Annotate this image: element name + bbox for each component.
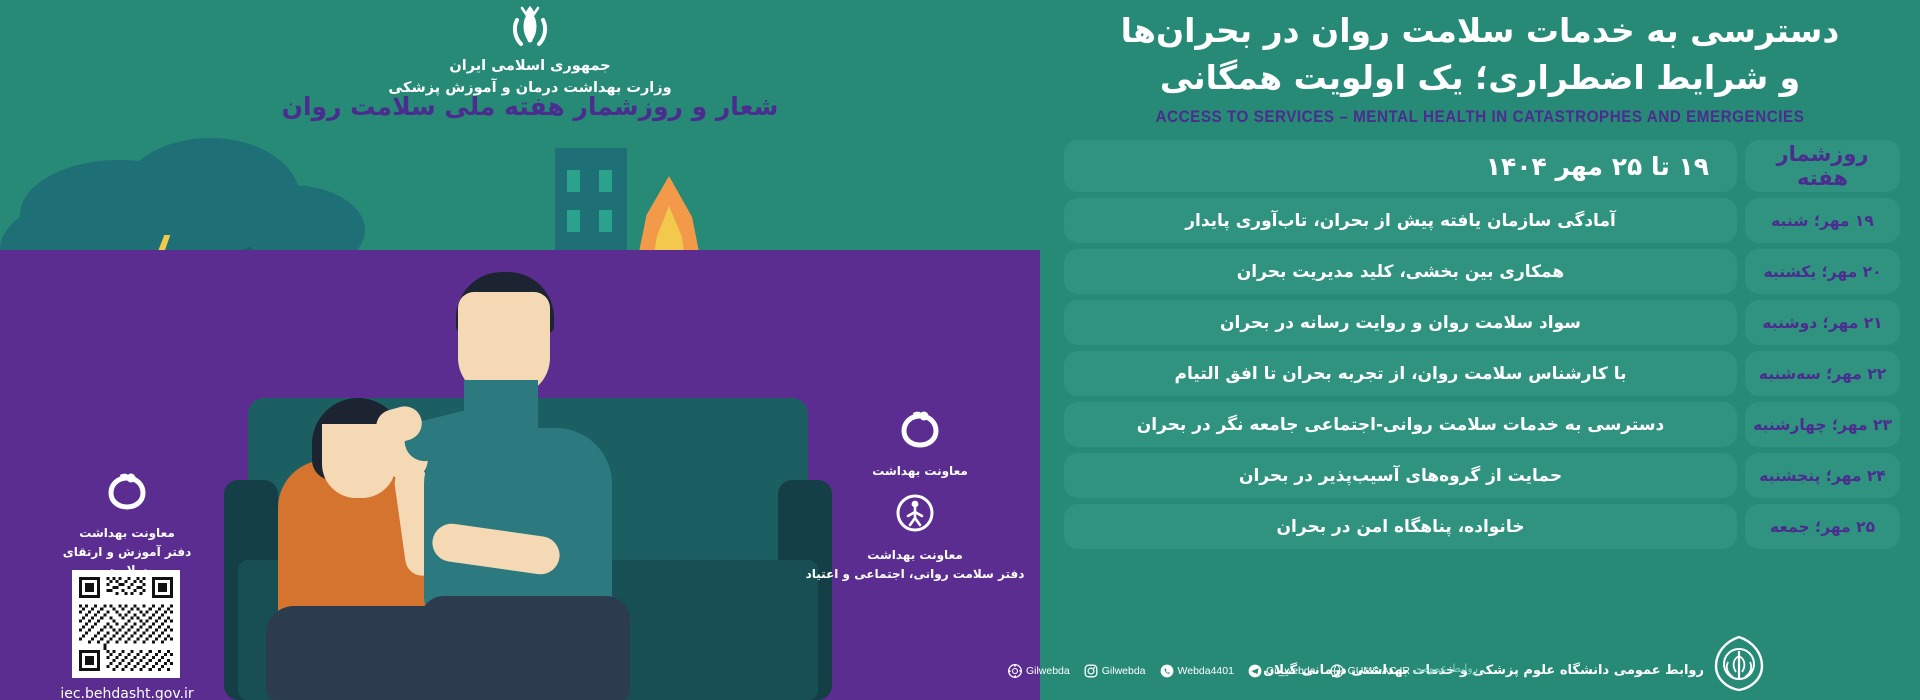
ministry-line-1: جمهوری اسلامی ایران [330, 56, 730, 78]
telegram-icon [1248, 664, 1262, 678]
day-label: ۲۳ مهر؛ چهارشنبه [1745, 402, 1900, 447]
iran-emblem-icon [504, 6, 556, 52]
table-row[interactable]: ۲۱ مهر؛ دوشنبه سواد سلامت روان و روایت ر… [1064, 300, 1900, 345]
day-label: ۱۹ مهر؛ شنبه [1745, 198, 1900, 243]
theme-label: خانواده، پناهگاه امن در بحران [1064, 504, 1737, 549]
day-label: ۲۵ مهر؛ جمعه [1745, 504, 1900, 549]
deputy-right-2-line-1: معاونت بهداشت [800, 546, 1030, 565]
table-row[interactable]: ۲۳ مهر؛ چهارشنبه دسترسی به خدمات سلامت ر… [1064, 402, 1900, 447]
table-row[interactable]: ۲۵ مهر؛ جمعه خانواده، پناهگاه امن در بحر… [1064, 504, 1900, 549]
globe-icon [1330, 664, 1344, 678]
social-handle: Gilwebda [1102, 665, 1146, 677]
qr-code-pattern [76, 574, 176, 674]
health-promotion-ring-icon [106, 470, 148, 512]
weekly-schedule-table: روزشمار هفته ۱۹ تا ۲۵ مهر ۱۴۰۴ ۱۹ مهر؛ ش… [1064, 140, 1900, 555]
social-link-aparat[interactable]: Gilwebda [1008, 664, 1070, 678]
social-handle: Gilwebda [1026, 665, 1070, 677]
slogan-text: شعار و روزشمار هفته ملی سلامت روان [250, 92, 810, 121]
social-link-telegram[interactable]: Gil_webda [1248, 664, 1316, 678]
day-label: ۲۱ مهر؛ دوشنبه [1745, 300, 1900, 345]
deputy-right-block-2: معاونت بهداشت دفتر سلامت روانی، اجتماعی … [800, 492, 1030, 583]
social-link-whatsapp[interactable]: Webda4401 [1160, 664, 1234, 678]
right-panel: دسترسی به خدمات سلامت روان در بحران‌ها و… [1040, 0, 1920, 700]
theme-label: با کارشناس سلامت روان، از تجربه بحران تا… [1064, 351, 1737, 396]
table-header-day-label: روزشمار هفته [1745, 140, 1900, 192]
deputy-right-1-line-1: معاونت بهداشت [820, 462, 1020, 481]
social-link-instagram[interactable]: Gilwebda [1084, 664, 1146, 678]
page-title: دسترسی به خدمات سلامت روان در بحران‌ها و… [1060, 8, 1900, 102]
deputy-right-block-1: معاونت بهداشت [820, 408, 1020, 481]
table-row[interactable]: ۲۰ مهر؛ یکشنبه همکاری بین بخشی، کلید مدی… [1064, 249, 1900, 294]
social-links: GUMS.AC.IR Gil_webda Webda4401 [1008, 664, 1410, 678]
table-header-row: روزشمار هفته ۱۹ تا ۲۵ مهر ۱۴۰۴ [1064, 140, 1900, 192]
ministry-header: جمهوری اسلامی ایران وزارت بهداشت درمان و… [330, 6, 730, 100]
title-line-1: دسترسی به خدمات سلامت روان در بحران‌ها [1060, 8, 1900, 55]
qr-url-text: iec.behdasht.gov.ir [22, 686, 232, 700]
social-link-globe[interactable]: GUMS.AC.IR [1330, 664, 1410, 678]
deputy-right-2-line-2: دفتر سلامت روانی، اجتماعی و اعتیاد [800, 565, 1030, 584]
mental-social-health-icon [894, 492, 936, 534]
day-label: ۲۰ مهر؛ یکشنبه [1745, 249, 1900, 294]
theme-label: آمادگی سازمان یافته پیش از بحران، تاب‌آو… [1064, 198, 1737, 243]
theme-label: دسترسی به خدمات سلامت روانی-اجتماعی جامع… [1064, 402, 1737, 447]
supportive-person-icon [420, 596, 630, 700]
deputy-left-block: معاونت بهداشت دفتر آموزش و ارتقای سلامت [42, 470, 212, 580]
social-handle: Webda4401 [1178, 665, 1234, 677]
social-handle: Gil_webda [1266, 665, 1316, 677]
table-row[interactable]: ۲۴ مهر؛ پنجشنبه حمایت از گروه‌های آسیب‌پ… [1064, 453, 1900, 498]
health-promotion-ring-icon [899, 408, 941, 450]
instagram-icon [1084, 664, 1098, 678]
footer: روابط عمومی دانشگاه علوم پزشکی و خدمات ب… [1040, 628, 1920, 700]
theme-label: همکاری بین بخشی، کلید مدیریت بحران [1064, 249, 1737, 294]
title-line-2: و شرایط اضطراری؛ یک اولویت همگانی [1060, 55, 1900, 102]
whatsapp-icon [1160, 664, 1174, 678]
day-label: ۲۴ مهر؛ پنجشنبه [1745, 453, 1900, 498]
gums-university-logo-icon [1708, 634, 1770, 692]
aparat-icon [1008, 664, 1022, 678]
day-label: ۲۲ مهر؛ سه‌شنبه [1745, 351, 1900, 396]
subtitle-english: ACCESS TO SERVICES – MENTAL HEALTH IN CA… [1094, 108, 1867, 127]
theme-label: سواد سلامت روان و روایت رسانه در بحران [1064, 300, 1737, 345]
table-row[interactable]: ۱۹ مهر؛ شنبه آمادگی سازمان یافته پیش از … [1064, 198, 1900, 243]
pr-label: روابط عمومی [1414, 662, 1478, 675]
theme-label: حمایت از گروه‌های آسیب‌پذیر در بحران [1064, 453, 1737, 498]
qr-code-icon[interactable] [72, 570, 180, 678]
left-panel: جمهوری اسلامی ایران وزارت بهداشت درمان و… [0, 0, 1040, 700]
supportive-person-icon [424, 428, 612, 614]
illustration-scene: معاونت بهداشت دفتر آموزش و ارتقای سلامت [0, 130, 1040, 700]
table-row[interactable]: ۲۲ مهر؛ سه‌شنبه با کارشناس سلامت روان، ا… [1064, 351, 1900, 396]
poster-root: جمهوری اسلامی ایران وزارت بهداشت درمان و… [0, 0, 1920, 700]
table-header-date-range: ۱۹ تا ۲۵ مهر ۱۴۰۴ [1064, 140, 1737, 192]
deputy-left-line-1: معاونت بهداشت [42, 524, 212, 543]
social-handle: GUMS.AC.IR [1348, 665, 1410, 677]
